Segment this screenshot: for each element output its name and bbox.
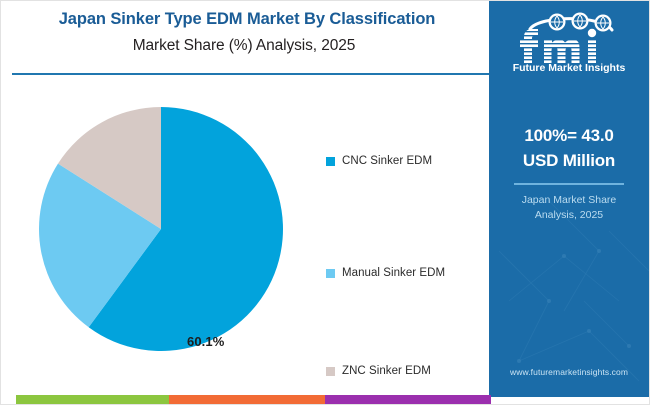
legend-item-znc-sinker-edm[interactable]: ZNC Sinker EDM [326,365,431,377]
legend-label: ZNC Sinker EDM [342,365,431,377]
pie-svg [39,107,283,351]
chart-page: Japan Sinker Type EDM Market By Classifi… [0,0,650,405]
legend-label: CNC Sinker EDM [342,155,432,167]
stat-total-units: USD Million [489,148,649,173]
panel-caption: Japan Market Share Analysis, 2025 [489,193,649,223]
page-subtitle: Market Share (%) Analysis, 2025 [1,37,487,55]
bottom-accent-bar [1,395,650,404]
legend-swatch-icon [326,269,335,278]
chart-legend: CNC Sinker EDMManual Sinker EDMZNC Sinke… [326,129,491,369]
stat-total-value: 100%= 43.0 [489,123,649,148]
legend-item-cnc-sinker-edm[interactable]: CNC Sinker EDM [326,155,432,167]
header-divider [12,73,493,75]
panel-caption-line1: Japan Market Share [489,193,649,208]
accent-segment-purple [325,395,491,404]
fmi-logo: Future Market Insights [489,11,649,73]
fmi-logo-mark: Future Market Insights [510,11,628,73]
page-title: Japan Sinker Type EDM Market By Classifi… [1,10,493,29]
legend-swatch-icon [326,367,335,376]
brand-side-panel: Future Market Insights 100%= 43.0 USD Mi… [489,1,649,397]
pie-slice-label-cnc: 60.1% [187,334,224,349]
legend-swatch-icon [326,157,335,166]
panel-divider [514,183,624,185]
accent-segment-orange [169,395,325,404]
chart-header: Japan Sinker Type EDM Market By Classifi… [1,1,493,75]
legend-label: Manual Sinker EDM [342,267,445,279]
website-url: www.futuremarketinsights.com [489,367,649,377]
pie-chart-area: 60.1% CNC Sinker EDMManual Sinker EDMZNC… [1,79,493,379]
accent-segment-green [16,395,169,404]
stat-block: 100%= 43.0 USD Million [489,123,649,173]
panel-caption-line2: Analysis, 2025 [489,208,649,223]
legend-item-manual-sinker-edm[interactable]: Manual Sinker EDM [326,267,445,279]
fmi-logo-tagline: Future Market Insights [513,62,626,73]
pie-chart [39,107,283,351]
